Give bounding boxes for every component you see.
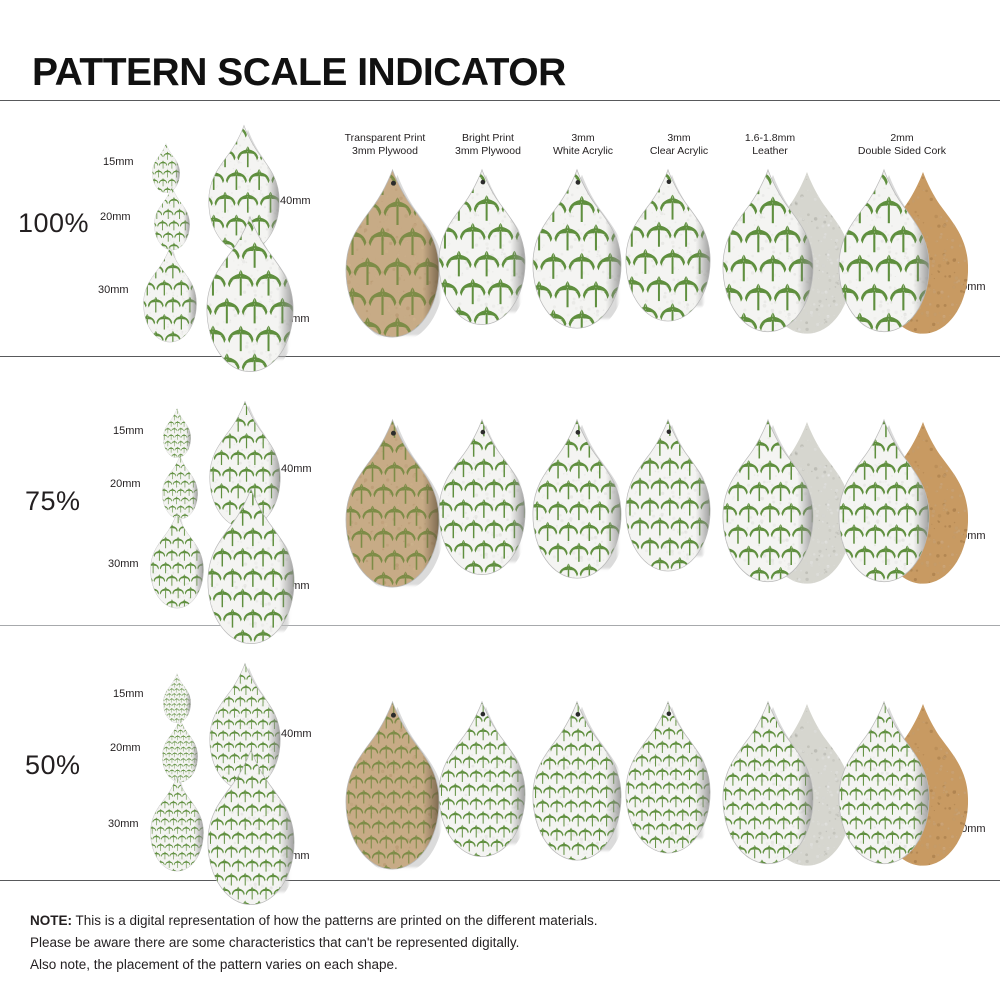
material-drop-row-50-double-sided-cork <box>838 700 930 866</box>
size-label-row-75-20mm: 20mm <box>110 478 141 490</box>
size-label-row-100-15mm: 15mm <box>103 156 134 168</box>
material-drop-row-100-double-sided-cork <box>838 168 930 334</box>
sample-drop-row-100-30mm <box>143 246 197 343</box>
sample-drop-row-50-15mm <box>163 673 191 723</box>
note-bold-prefix: NOTE: <box>30 913 72 928</box>
scale-label-row-75: 75% <box>25 486 81 517</box>
material-drop-row-75-leather <box>722 418 814 584</box>
material-drop-row-50-clear-acrylic <box>625 700 711 855</box>
column-header-line2: Double Sided Cork <box>822 145 982 158</box>
material-drop-row-100-bright-print-plywood <box>438 168 526 326</box>
size-label-row-100-20mm: 20mm <box>100 211 131 223</box>
sample-drop-row-75-20mm <box>162 455 198 520</box>
page-title: PATTERN SCALE INDICATOR <box>32 53 566 92</box>
sample-drop-row-50-20mm <box>162 718 198 783</box>
material-drop-row-75-double-sided-cork <box>838 418 930 584</box>
material-drop-row-50-bright-print-plywood <box>438 700 526 858</box>
divider-bottom <box>0 880 1000 881</box>
sample-drop-row-100-20mm <box>154 186 190 251</box>
size-label-row-100-40mm: 40mm <box>280 195 311 207</box>
divider-row2-row3 <box>0 625 1000 626</box>
material-drop-row-100-clear-acrylic <box>625 168 711 323</box>
note-line-1: This is a digital representation of how … <box>72 913 598 928</box>
pattern-scale-indicator-page: PATTERN SCALE INDICATOR Transparent Prin… <box>0 0 1000 1000</box>
note-block: NOTE: This is a digital representation o… <box>30 910 598 976</box>
material-drop-row-50-transparent-print-plywood <box>345 700 440 871</box>
sample-drop-row-75-50mm <box>207 487 295 645</box>
material-drop-row-75-clear-acrylic <box>625 418 711 573</box>
size-label-row-75-15mm: 15mm <box>113 425 144 437</box>
material-drop-row-50-white-acrylic <box>532 700 622 862</box>
material-drop-row-75-white-acrylic <box>532 418 622 580</box>
size-label-row-50-30mm: 30mm <box>108 818 139 830</box>
column-header-double-sided-cork: 2mm Double Sided Cork <box>822 132 982 158</box>
divider-top <box>0 100 1000 101</box>
sample-drop-row-50-30mm <box>150 775 204 872</box>
note-line-3: Also note, the placement of the pattern … <box>30 954 598 976</box>
size-label-row-75-40mm: 40mm <box>281 463 312 475</box>
sample-drop-row-100-50mm <box>206 215 294 373</box>
scale-label-row-50: 50% <box>25 750 81 781</box>
sample-drop-row-75-30mm <box>150 512 204 609</box>
size-label-row-50-20mm: 20mm <box>110 742 141 754</box>
material-drop-row-75-bright-print-plywood <box>438 418 526 576</box>
size-label-row-50-15mm: 15mm <box>113 688 144 700</box>
scale-label-row-100: 100% <box>18 208 89 239</box>
material-drop-row-50-leather <box>722 700 814 866</box>
sample-drop-row-75-15mm <box>163 408 191 458</box>
note-line-2: Please be aware there are some character… <box>30 932 598 954</box>
size-label-row-75-30mm: 30mm <box>108 558 139 570</box>
material-drop-row-100-transparent-print-plywood <box>345 168 440 339</box>
material-drop-row-100-leather <box>722 168 814 334</box>
size-label-row-50-40mm: 40mm <box>281 728 312 740</box>
divider-row1-row2 <box>0 356 1000 357</box>
size-label-row-100-30mm: 30mm <box>98 284 129 296</box>
column-header-line1: 2mm <box>822 132 982 145</box>
sample-drop-row-50-50mm <box>207 748 295 906</box>
material-drop-row-75-transparent-print-plywood <box>345 418 440 589</box>
material-drop-row-100-white-acrylic <box>532 168 622 330</box>
